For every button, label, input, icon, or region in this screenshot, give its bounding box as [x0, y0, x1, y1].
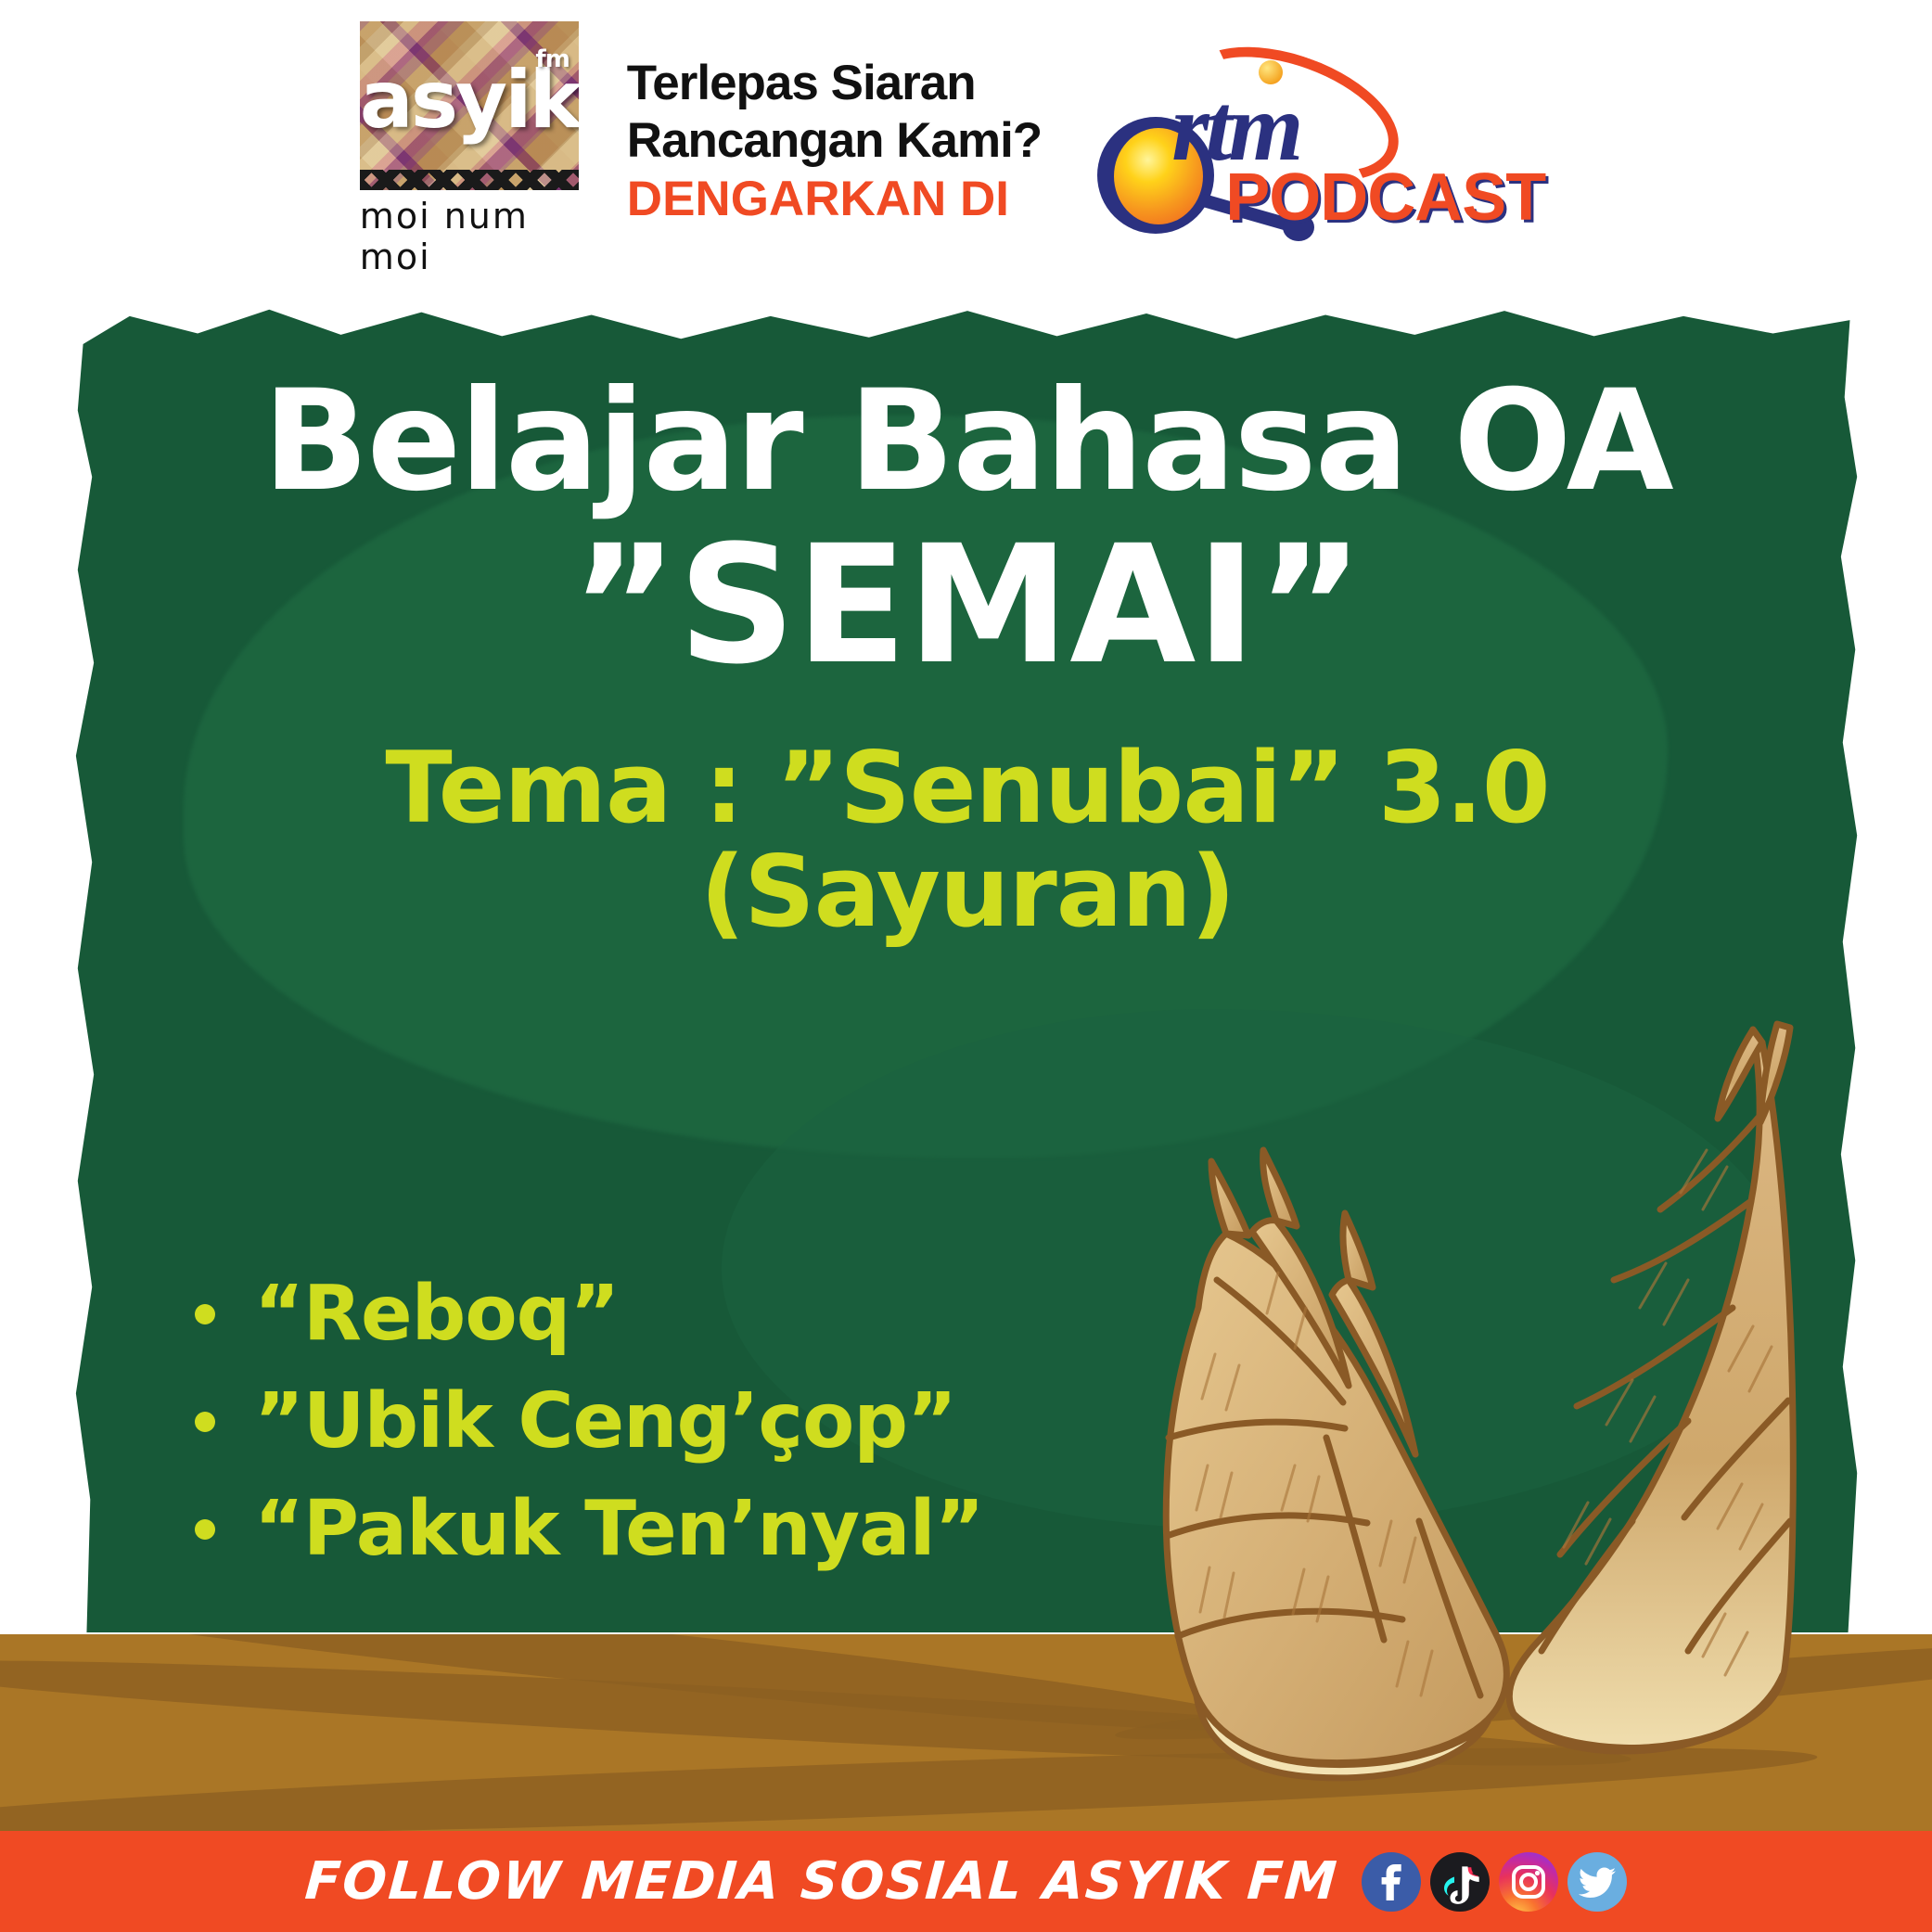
promo-line-1: Terlepas Siaran [627, 55, 1042, 112]
list-item-label: ”Ubik Ceng’çop” [254, 1378, 956, 1465]
bullet-dot-icon [195, 1519, 215, 1540]
zigzag-border [360, 170, 579, 190]
theme-subtitle-line-1: Tema : ”Senubai” 3.0 [72, 736, 1862, 840]
vocabulary-list: “Reboq” ”Ubik Ceng’çop” “Pakuk Ten’nyal” [195, 1271, 1354, 1593]
theme-subtitle-line-2: (Sayuran) [72, 840, 1862, 944]
social-links [1362, 1852, 1627, 1912]
list-item-label: “Reboq” [254, 1271, 619, 1358]
promo-line-2: Rancangan Kami? [627, 112, 1042, 170]
promo-line-3: DENGARKAN DI [627, 170, 1042, 229]
bullet-dot-icon [195, 1412, 215, 1432]
asyik-fm-superscript: fm [535, 45, 569, 73]
page-title-line-2: ”SEMAI” [72, 523, 1862, 688]
asyik-fm-logo: asyik fm moi num moi [360, 21, 579, 277]
twitter-icon[interactable] [1567, 1852, 1627, 1912]
facebook-glyph [1362, 1852, 1421, 1912]
bullet-dot-icon [195, 1304, 215, 1324]
list-item: “Pakuk Ten’nyal” [195, 1486, 1354, 1573]
asyik-logo-mark: asyik fm [360, 21, 579, 190]
tiktok-glyph [1430, 1852, 1490, 1912]
instagram-icon[interactable] [1499, 1852, 1558, 1912]
wood-grain-line [1113, 1634, 1932, 1755]
rtm-podcast-logo: rtm PODCAST [1090, 48, 1572, 243]
footer-banner: FOLLOW MEDIA SOSIAL ASYIK FM [0, 1831, 1932, 1932]
list-item: ”Ubik Ceng’çop” [195, 1378, 1354, 1465]
chalkboard-content: Belajar Bahasa OA ”SEMAI” Tema : ”Senuba… [72, 278, 1862, 944]
page-title-line-1: Belajar Bahasa OA [72, 371, 1862, 512]
facebook-icon[interactable] [1362, 1852, 1421, 1912]
list-item-label: “Pakuk Ten’nyal” [254, 1486, 983, 1573]
promo-tagline: Terlepas Siaran Rancangan Kami? DENGARKA… [627, 55, 1042, 229]
list-item: “Reboq” [195, 1271, 1354, 1358]
tiktok-icon[interactable] [1430, 1852, 1490, 1912]
wooden-table-surface [0, 1634, 1932, 1831]
twitter-glyph [1567, 1852, 1627, 1912]
header-bar: asyik fm moi num moi Terlepas Siaran Ran… [0, 0, 1932, 278]
asyik-tagline: moi num moi [360, 196, 579, 277]
rtm-podcast-label: PODCAST [1225, 160, 1545, 236]
footer-label: FOLLOW MEDIA SOSIAL ASYIK FM [302, 1851, 1339, 1912]
instagram-glyph [1499, 1852, 1558, 1912]
